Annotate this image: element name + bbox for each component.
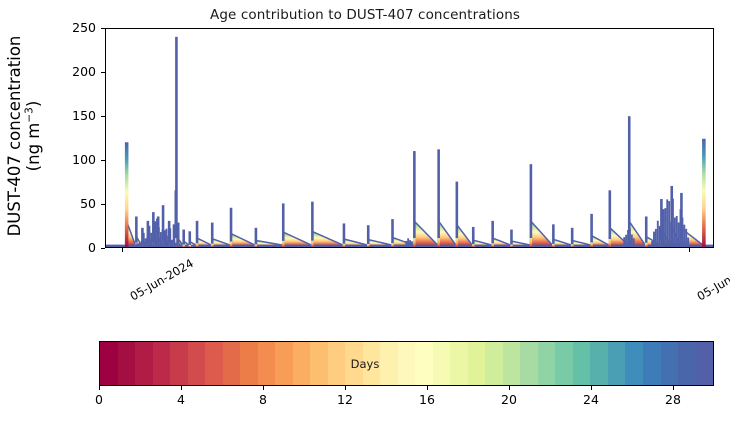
y-tick-label: 0 [58, 240, 96, 255]
colorbar-segment [573, 342, 591, 385]
y-axis-label-line2: (ng m−3) [24, 101, 43, 172]
y-axis-label-line1: DUST-407 concentration [5, 36, 24, 237]
colorbar-segment [293, 342, 311, 385]
colorbar-segment [520, 342, 538, 385]
colorbar-segment [135, 342, 153, 385]
colorbar-segment [310, 342, 328, 385]
colorbar-segment [240, 342, 258, 385]
y-tick-label: 150 [58, 108, 96, 123]
y-tick-label: 100 [58, 152, 96, 167]
colorbar-segment [380, 342, 398, 385]
y-tick-mark [101, 248, 105, 249]
age-contribution-series [106, 29, 713, 247]
y-axis-label: DUST-407 concentration (ng m−3) [7, 21, 43, 251]
plot-area[interactable] [105, 28, 714, 248]
colorbar-segment [258, 342, 276, 385]
y-tick-label: 200 [58, 64, 96, 79]
colorbar-segment [643, 342, 661, 385]
x-tick-label: 05-Jun-2024 [127, 256, 195, 304]
colorbar-tick-mark [263, 386, 264, 390]
y-tick-label: 250 [58, 20, 96, 35]
colorbar-tick-mark [99, 386, 100, 390]
colorbar-tick-mark [181, 386, 182, 390]
colorbar-tick-label: 8 [259, 392, 267, 407]
colorbar-tick-label: 24 [583, 392, 599, 407]
colorbar-tick-label: 16 [419, 392, 435, 407]
colorbar-segment [415, 342, 433, 385]
colorbar-tick-mark [509, 386, 510, 390]
colorbar-segment [485, 342, 503, 385]
colorbar-segment [503, 342, 521, 385]
colorbar[interactable] [99, 341, 714, 386]
x-tick-label: 05-Jun-2024 [694, 256, 730, 304]
colorbar-tick-label: 28 [665, 392, 681, 407]
colorbar-tick-label: 12 [337, 392, 353, 407]
x-tick-mark [122, 248, 123, 252]
colorbar-segment [608, 342, 626, 385]
colorbar-segment [328, 342, 346, 385]
colorbar-segment [696, 342, 714, 385]
colorbar-tick-mark [673, 386, 674, 390]
colorbar-segment [275, 342, 293, 385]
colorbar-segment [188, 342, 206, 385]
colorbar-segment [590, 342, 608, 385]
colorbar-tick-mark [427, 386, 428, 390]
colorbar-tick-mark [345, 386, 346, 390]
colorbar-segment [468, 342, 486, 385]
figure-root: Age contribution to DUST-407 concentrati… [0, 0, 730, 425]
colorbar-segment [398, 342, 416, 385]
colorbar-segment [363, 342, 381, 385]
colorbar-segment [118, 342, 136, 385]
colorbar-segment [625, 342, 643, 385]
chart-title: Age contribution to DUST-407 concentrati… [0, 7, 730, 23]
colorbar-segment [433, 342, 451, 385]
colorbar-segment [538, 342, 556, 385]
x-tick-mark [689, 248, 690, 252]
colorbar-tick-mark [591, 386, 592, 390]
colorbar-segment [170, 342, 188, 385]
colorbar-segment [100, 342, 118, 385]
y-tick-label: 50 [58, 196, 96, 211]
colorbar-segment [153, 342, 171, 385]
colorbar-segment [678, 342, 696, 385]
colorbar-segment [555, 342, 573, 385]
colorbar-tick-label: 0 [95, 392, 103, 407]
colorbar-tick-label: 4 [177, 392, 185, 407]
colorbar-segment [345, 342, 363, 385]
colorbar-segment [223, 342, 241, 385]
colorbar-segment [450, 342, 468, 385]
colorbar-segment [661, 342, 679, 385]
colorbar-segment [205, 342, 223, 385]
colorbar-tick-label: 20 [501, 392, 517, 407]
